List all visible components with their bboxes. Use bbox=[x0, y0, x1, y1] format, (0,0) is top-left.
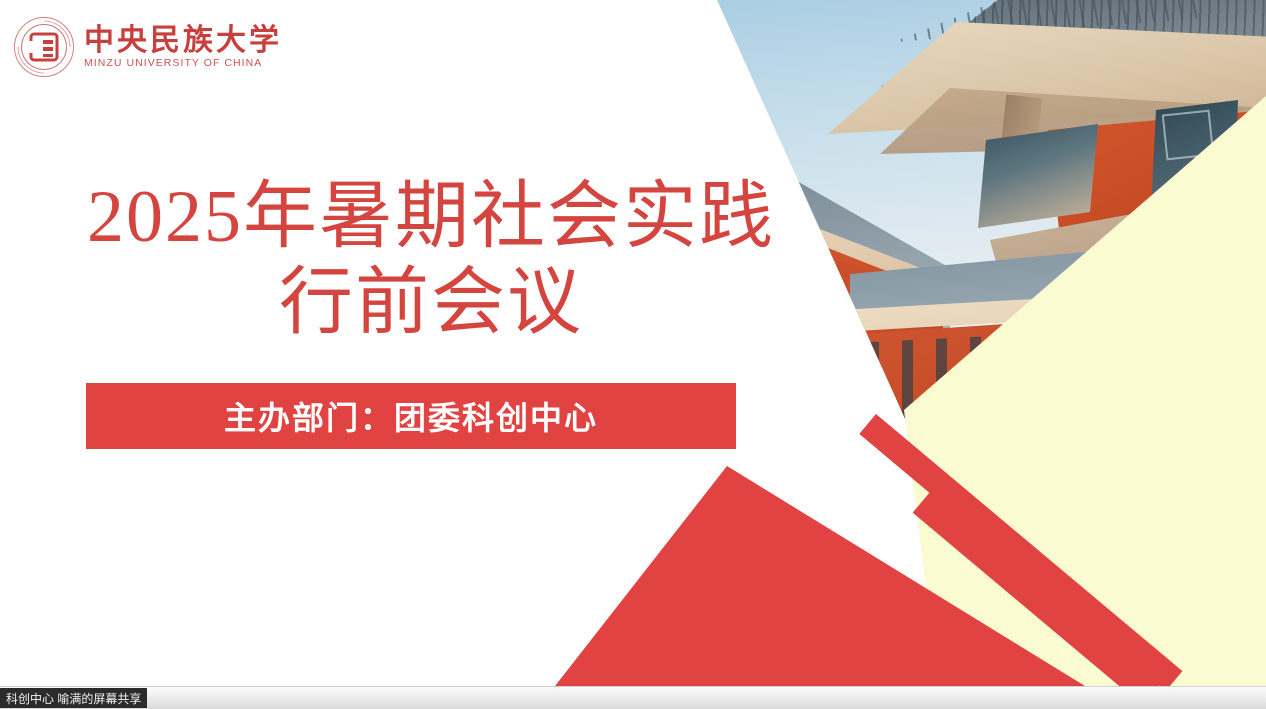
screen: 中央民族大学 MINZU UNIVERSITY OF CHINA 2025年暑期… bbox=[0, 0, 1266, 709]
photo-window-left bbox=[978, 124, 1098, 228]
screen-share-bar: 科创中心 喻满的屏幕共享 bbox=[0, 686, 1266, 709]
slide-title: 2025年暑期社会实践 行前会议 bbox=[86, 175, 776, 347]
screen-share-label: 科创中心 喻满的屏幕共享 bbox=[0, 688, 147, 708]
university-name-en: MINZU UNIVERSITY OF CHINA bbox=[84, 58, 282, 69]
organizer-banner: 主办部门：团委科创中心 bbox=[86, 383, 736, 449]
logo-text-block: 中央民族大学 MINZU UNIVERSITY OF CHINA bbox=[84, 26, 282, 69]
university-seal-icon bbox=[14, 17, 74, 77]
organizer-banner-text: 主办部门：团委科创中心 bbox=[224, 393, 598, 439]
university-logo: 中央民族大学 MINZU UNIVERSITY OF CHINA bbox=[14, 17, 282, 77]
university-name-cn: 中央民族大学 bbox=[84, 26, 282, 56]
presentation-slide: 中央民族大学 MINZU UNIVERSITY OF CHINA 2025年暑期… bbox=[0, 0, 1266, 686]
